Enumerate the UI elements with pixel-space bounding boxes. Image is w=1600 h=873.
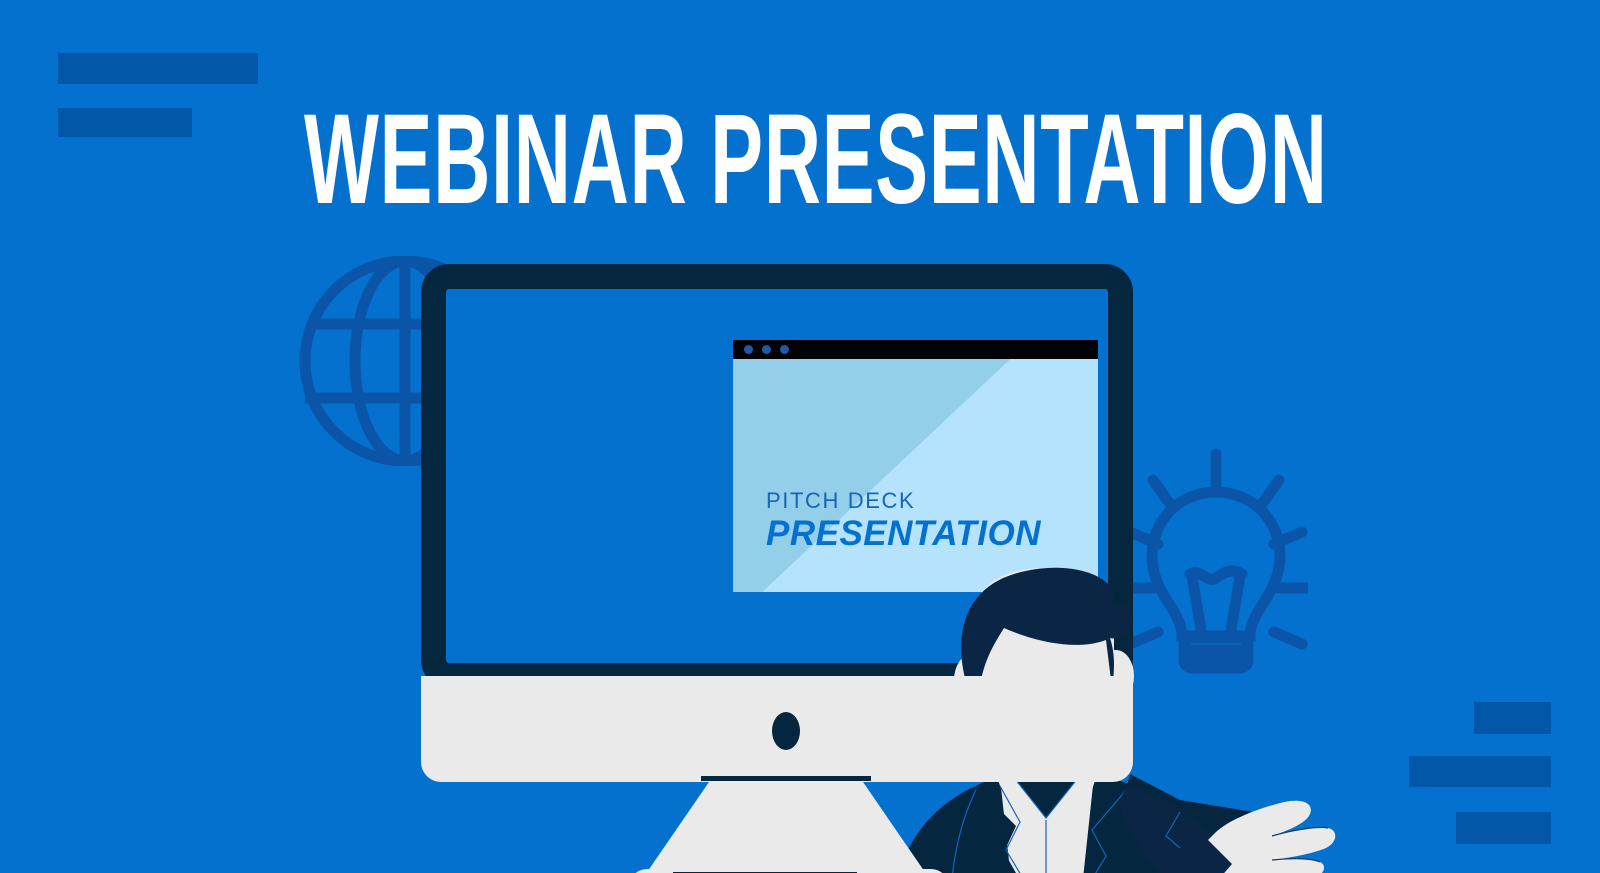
- deco-bar-top-left-short: [58, 108, 192, 137]
- desktop-monitor: PITCH DECK PRESENTATION: [413, 264, 1143, 873]
- deco-bar-top-left-long: [58, 53, 258, 84]
- page-title: WEBINAR PRESENTATION: [304, 96, 1296, 224]
- monitor-stand-neck: [643, 774, 929, 873]
- browser-window: PITCH DECK PRESENTATION: [733, 340, 1098, 592]
- browser-titlebar: [733, 340, 1098, 359]
- slide-text-block: PITCH DECK PRESENTATION: [766, 489, 1086, 553]
- slide-preview: PITCH DECK PRESENTATION: [733, 359, 1098, 592]
- slide-kicker: PITCH DECK: [766, 489, 1086, 513]
- monitor-stand-neck-line: [701, 776, 871, 781]
- deco-bar-bottom-right-3: [1456, 812, 1551, 844]
- browser-dot-2-icon: [762, 345, 771, 354]
- slide-heading: PRESENTATION: [766, 515, 1086, 553]
- slide-canvas: WEBINAR PRESENTATION: [0, 0, 1600, 873]
- slide-diagonal-highlight: [733, 359, 1098, 592]
- browser-dot-1-icon: [744, 345, 753, 354]
- deco-bar-bottom-right-2: [1409, 756, 1551, 787]
- deco-bar-bottom-right-1: [1474, 702, 1551, 734]
- monitor-brand-logo-icon: [772, 712, 800, 750]
- browser-dot-3-icon: [780, 345, 789, 354]
